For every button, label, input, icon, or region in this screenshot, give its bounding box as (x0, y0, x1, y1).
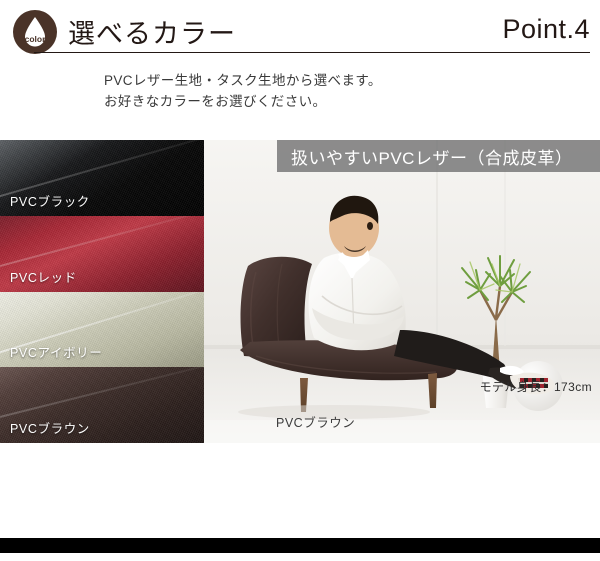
swatch-pvc-red[interactable]: PVCレッド (0, 216, 204, 292)
content-area: PVCブラック PVCレッド PVCアイボリー PVCブラウン (0, 140, 600, 443)
swatch-label: PVCブラック (10, 191, 90, 210)
photo-banner: 扱いやすいPVCレザー（合成皮革） (277, 140, 600, 172)
swatch-pvc-black[interactable]: PVCブラック (0, 140, 204, 216)
description-block: PVCレザー生地・タスク生地から選べます。 お好きなカラーをお選びください。 (104, 70, 382, 112)
point-label: Point.4 (502, 14, 590, 45)
swatch-label: PVCブラウン (10, 418, 90, 437)
color-droplet-icon: color (12, 9, 58, 55)
photo-caption: PVCブラウン (276, 412, 355, 431)
color-icon-caption: color (25, 34, 46, 44)
page-title: 選べるカラー (68, 12, 236, 51)
product-photo-illustration (204, 140, 600, 443)
model-height-note: モデル身長：173cm (480, 378, 592, 395)
footer-bar (0, 538, 600, 553)
product-photo: 扱いやすいPVCレザー（合成皮革） PVCブラウン モデル身長：173cm (204, 140, 600, 443)
swatch-label: PVCレッド (10, 267, 77, 286)
swatch-pvc-ivory[interactable]: PVCアイボリー (0, 292, 204, 368)
description-line-1: PVCレザー生地・タスク生地から選べます。 (104, 70, 382, 91)
color-swatch-list: PVCブラック PVCレッド PVCアイボリー PVCブラウン (0, 140, 204, 443)
swatch-pvc-brown[interactable]: PVCブラウン (0, 367, 204, 443)
header-divider (34, 52, 590, 53)
swatch-label: PVCアイボリー (10, 342, 102, 361)
description-line-2: お好きなカラーをお選びください。 (104, 91, 382, 112)
page-header: color 選べるカラー Point.4 (0, 0, 600, 62)
photo-banner-text: 扱いやすいPVCレザー（合成皮革） (277, 144, 572, 169)
